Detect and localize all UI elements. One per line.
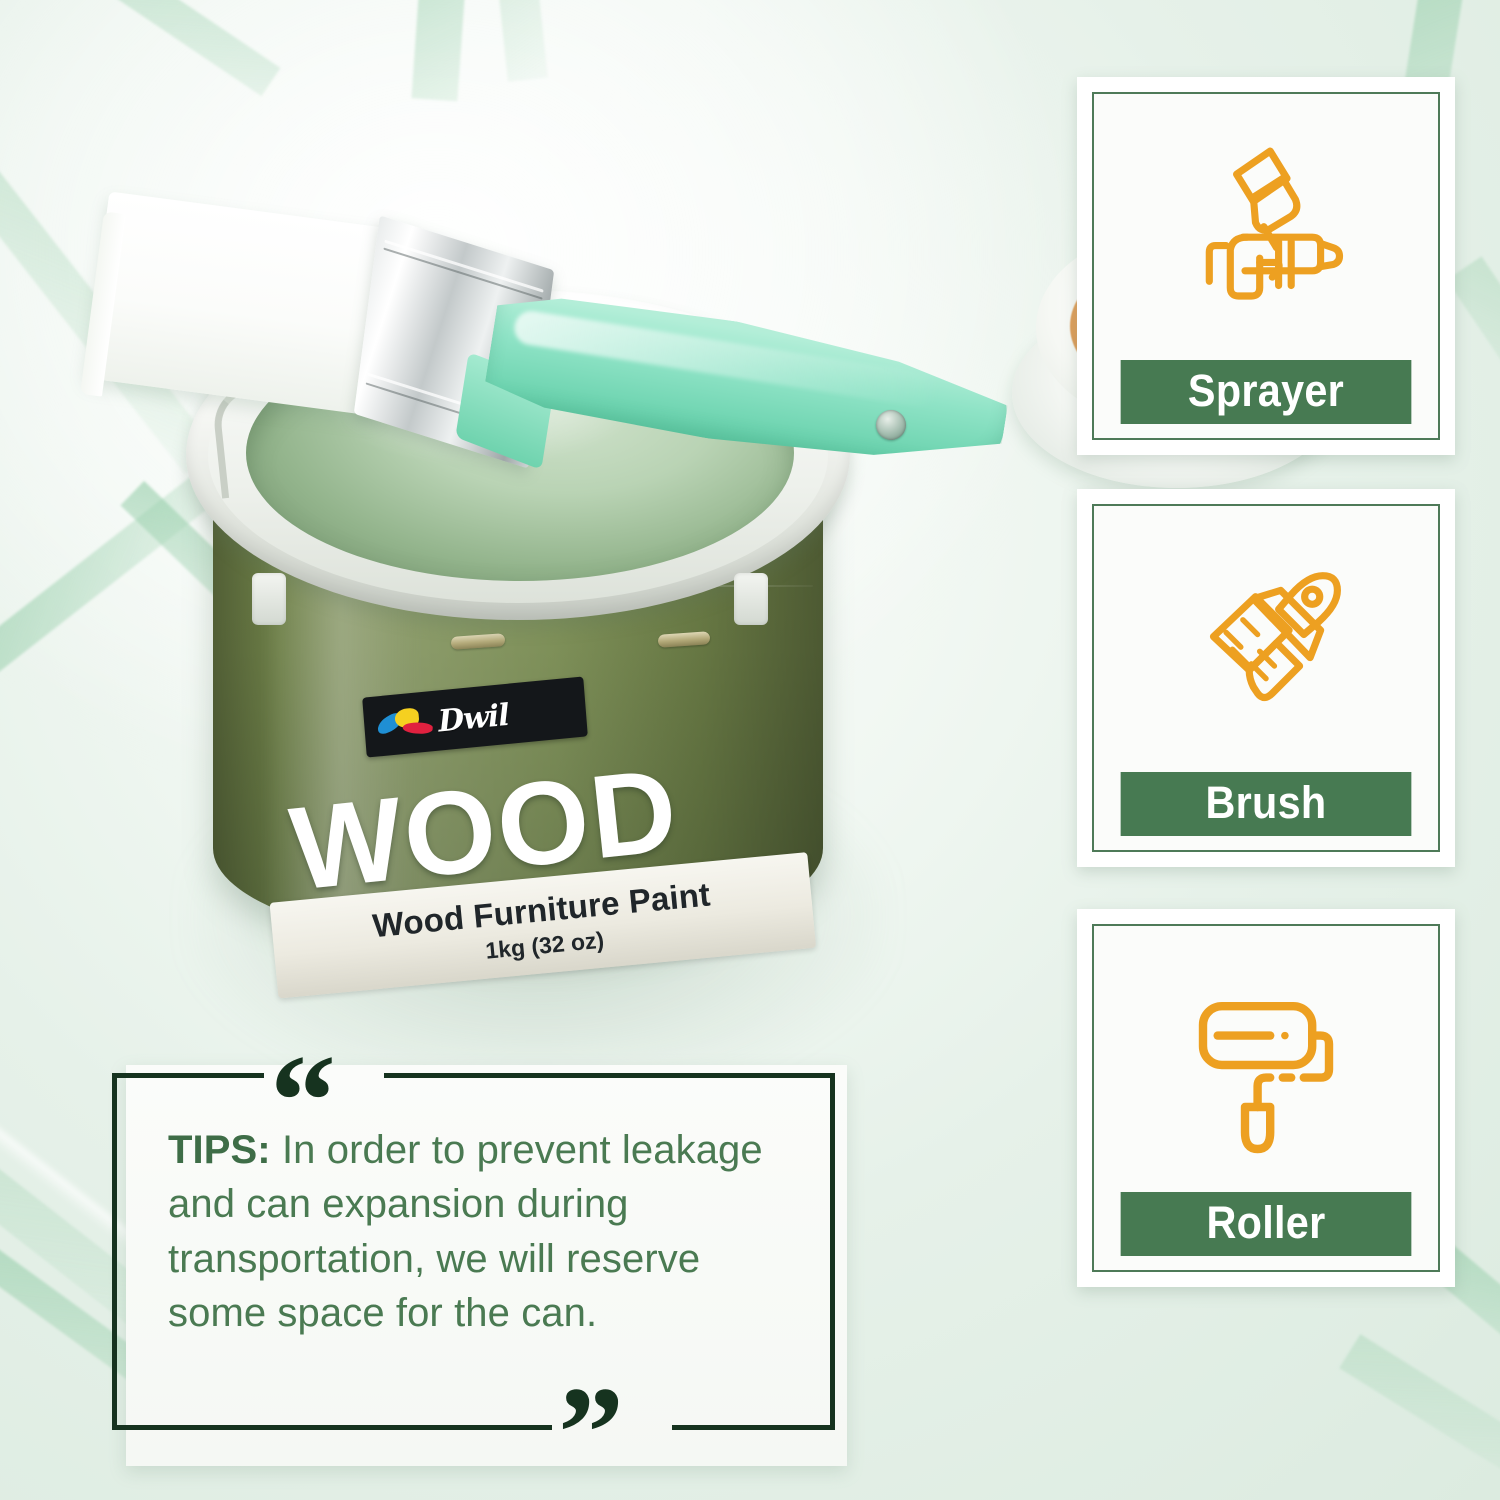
tips-prefix: TIPS: bbox=[168, 1128, 271, 1172]
brand-swoosh-icon bbox=[373, 704, 435, 744]
feature-card-brush[interactable]: Brush bbox=[1077, 489, 1455, 867]
swoosh-red bbox=[402, 722, 433, 735]
paint-brush-icon bbox=[1108, 518, 1424, 772]
paint-sprayer-gun-icon bbox=[1108, 106, 1424, 360]
ferrule-groove bbox=[384, 240, 543, 293]
frame-top-left bbox=[112, 1073, 264, 1078]
frame-bottom-right bbox=[672, 1425, 835, 1430]
quote-close-icon: ” bbox=[558, 1367, 624, 1499]
card-inner: Roller bbox=[1092, 924, 1440, 1272]
rim-notch-left bbox=[252, 573, 286, 625]
feature-card-label: Roller bbox=[1121, 1192, 1412, 1256]
feature-card-sprayer[interactable]: Sprayer bbox=[1077, 77, 1455, 455]
feature-card-label: Sprayer bbox=[1121, 360, 1412, 424]
frame-bottom-left bbox=[112, 1425, 552, 1430]
feature-card-roller[interactable]: Roller bbox=[1077, 909, 1455, 1287]
ferrule-groove bbox=[383, 248, 542, 300]
product-listing-image: Dwil WOOD Wood Furniture Paint 1kg (32 o… bbox=[0, 0, 1500, 1500]
rim-notch-right bbox=[734, 573, 768, 625]
frame-left bbox=[112, 1073, 117, 1430]
tips-text: TIPS: In order to prevent leakage and ca… bbox=[168, 1123, 791, 1341]
brand-name: Dwil bbox=[437, 701, 510, 738]
paint-brush bbox=[96, 196, 1006, 506]
tips-quote-box: “ ” TIPS: In order to prevent leakage an… bbox=[112, 1049, 835, 1450]
brush-bristles bbox=[85, 191, 403, 416]
card-inner: Sprayer bbox=[1092, 92, 1440, 440]
card-inner: Brush bbox=[1092, 504, 1440, 852]
frame-top-right bbox=[384, 1073, 835, 1078]
paint-roller-icon bbox=[1108, 938, 1424, 1192]
feature-card-label: Brush bbox=[1121, 772, 1412, 836]
frame-right bbox=[830, 1073, 835, 1430]
